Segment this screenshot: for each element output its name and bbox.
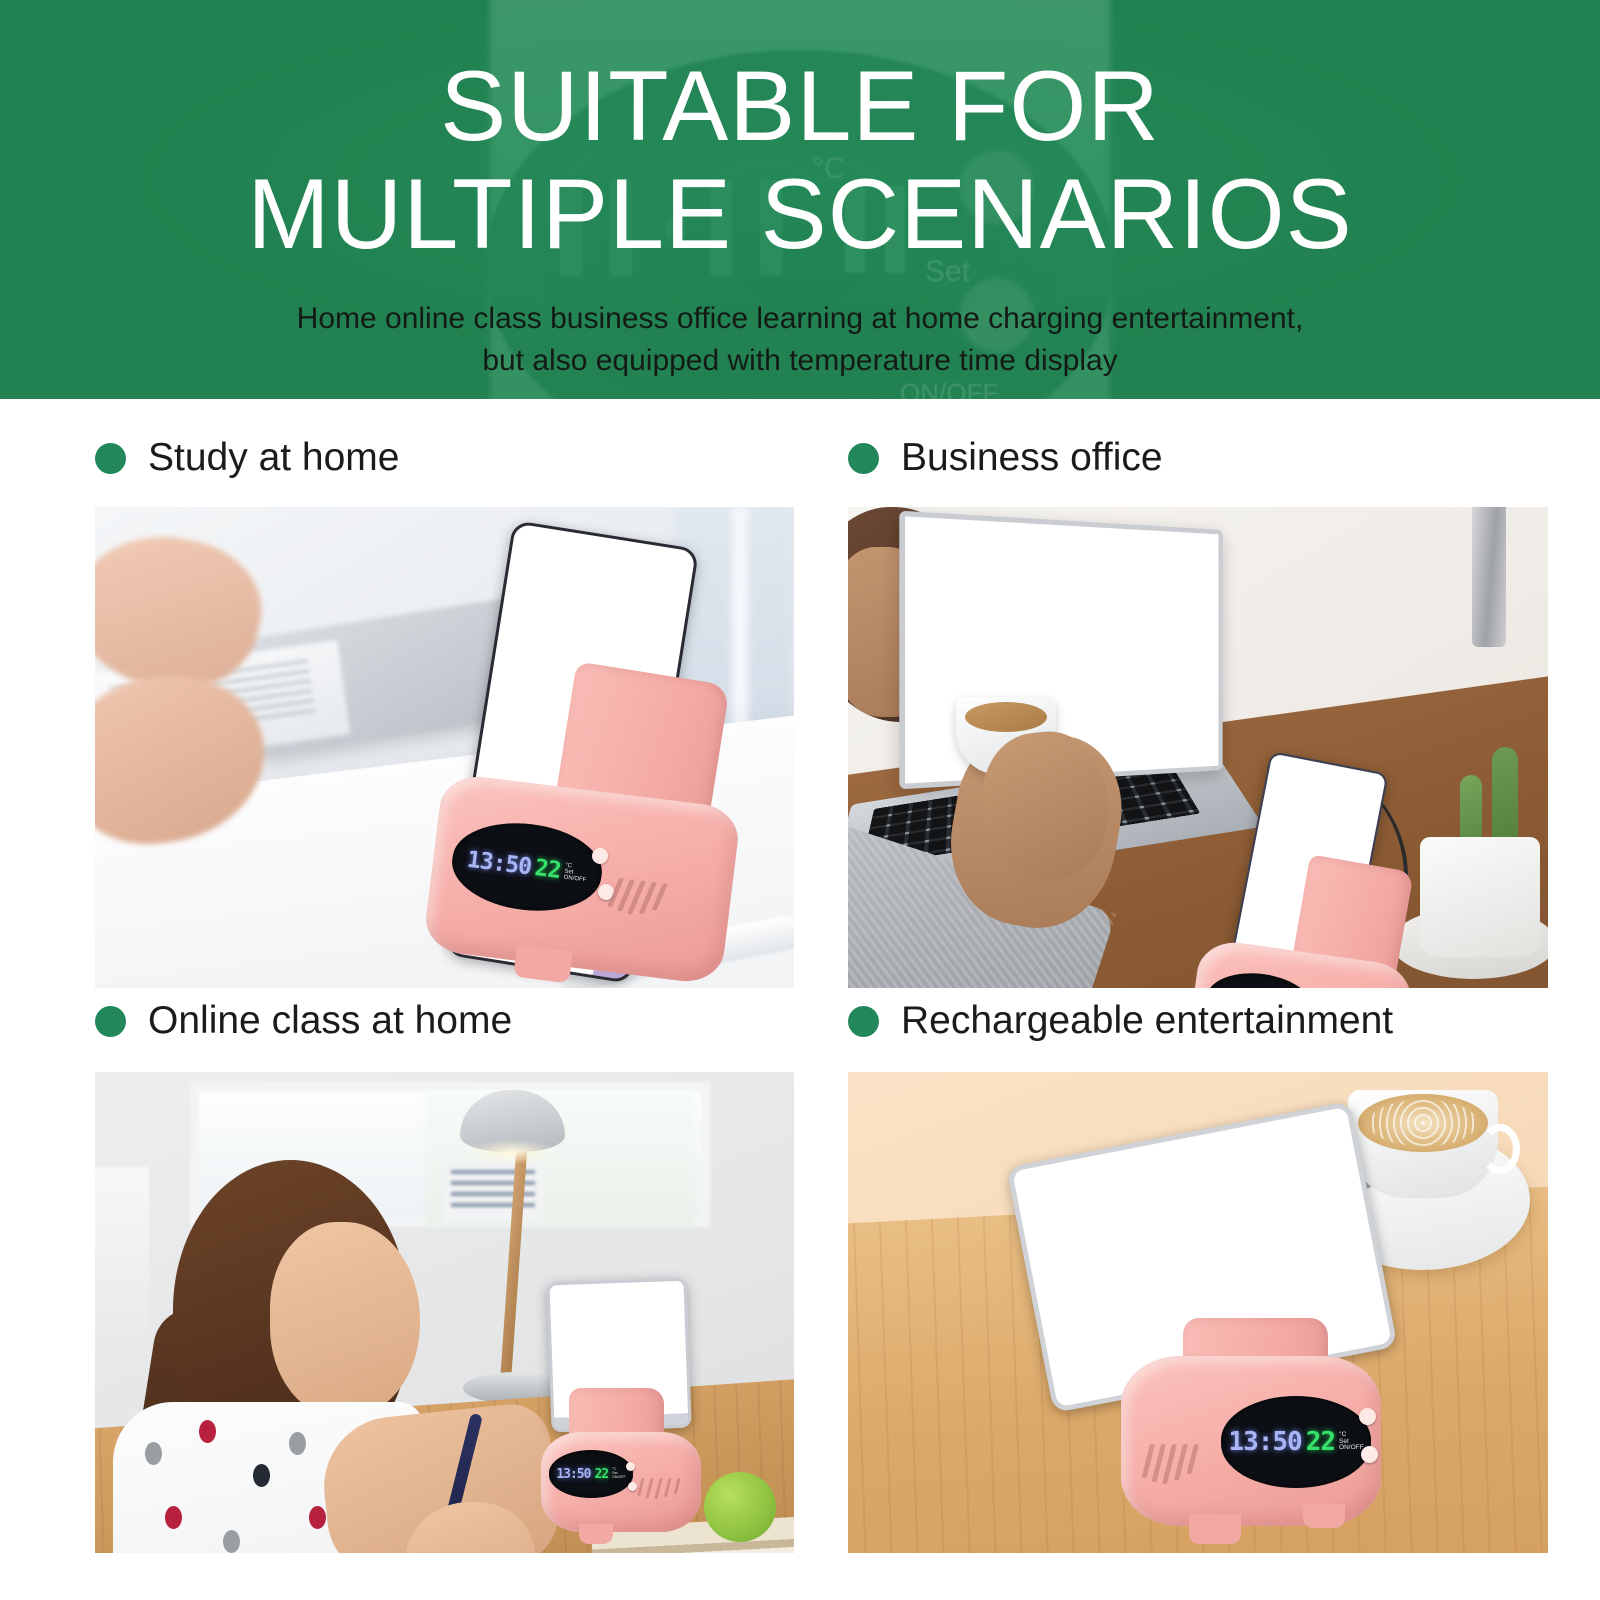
- scenario-label-study-at-home: Study at home: [95, 437, 399, 479]
- bullet-dot-icon: [95, 443, 126, 474]
- speaker-vents: [636, 1478, 680, 1499]
- led-display: 13:50 22 °C Set ON/OFF: [549, 1450, 633, 1498]
- scenario-label-business-office: Business office: [848, 437, 1163, 479]
- led-temperature: 22: [533, 855, 562, 884]
- child-face: [270, 1222, 420, 1417]
- page-subtitle-line2: but also equipped with temperature time …: [90, 340, 1510, 382]
- page-subtitle: Home online class business office learni…: [90, 298, 1510, 382]
- scenario-label-text: Study at home: [148, 437, 399, 479]
- scenario-label-rechargeable-entertainment: Rechargeable entertainment: [848, 1000, 1393, 1042]
- product-device: 13:50 22 °C Set ON/OFF: [1166, 752, 1466, 988]
- led-power-label: ON/OFF: [612, 1476, 626, 1480]
- floor-lamp: [1472, 507, 1506, 647]
- page-title: SUITABLE FOR MULTIPLE SCENARIOS: [0, 52, 1600, 268]
- bullet-dot-icon: [848, 1006, 879, 1037]
- power-button[interactable]: [1361, 1446, 1378, 1463]
- led-time: 13:50: [466, 847, 533, 881]
- page-title-line1: SUITABLE FOR: [440, 50, 1160, 161]
- scenario-photo-study-at-home: 13:50 22 °C Set ON/OFF: [95, 507, 794, 988]
- set-button[interactable]: [1359, 1408, 1376, 1425]
- page-title-line2: MULTIPLE SCENARIOS: [0, 160, 1600, 268]
- product-device: 13:50 22 °C Set ON/OFF: [1013, 1112, 1463, 1552]
- device-foot: [513, 945, 572, 984]
- scenario-photo-online-class-at-home: 13:50 22 °C Set ON/OFF: [95, 1072, 794, 1553]
- product-device: 13:50 22 °C Set ON/OFF: [527, 1280, 757, 1553]
- set-button[interactable]: [626, 1462, 635, 1471]
- power-button[interactable]: [628, 1482, 637, 1491]
- device-foot: [1303, 1504, 1345, 1528]
- scenario-photo-business-office: 13:50 22 °C Set ON/OFF: [848, 507, 1548, 988]
- scenario-photo-rechargeable-entertainment: 13:50 22 °C Set ON/OFF: [848, 1072, 1548, 1553]
- scenario-label-text: Rechargeable entertainment: [901, 1000, 1393, 1042]
- led-temperature: 22: [1306, 1427, 1335, 1457]
- device-foot: [1189, 1514, 1241, 1544]
- bullet-dot-icon: [95, 1006, 126, 1037]
- led-power-label: ON/OFF: [1339, 1445, 1364, 1452]
- led-time: 13:50: [556, 1467, 590, 1482]
- scenario-label-text: Business office: [901, 437, 1163, 479]
- led-display: 13:50 22 °C Set ON/OFF: [1221, 1396, 1371, 1488]
- led-time: 13:50: [1228, 1427, 1301, 1457]
- scenario-label-online-class-at-home: Online class at home: [95, 1000, 512, 1042]
- led-temperature: 22: [594, 1467, 608, 1482]
- product-feature-page: °C Set ON/OFF SUITABLE FOR MULTIPLE SCEN…: [0, 0, 1600, 1600]
- scenario-label-text: Online class at home: [148, 1000, 512, 1042]
- product-device: 13:50 22 °C Set ON/OFF: [360, 512, 760, 972]
- speaker-vents: [1140, 1444, 1199, 1484]
- page-subtitle-line1: Home online class business office learni…: [297, 302, 1304, 335]
- bullet-dot-icon: [848, 443, 879, 474]
- header-banner: °C Set ON/OFF SUITABLE FOR MULTIPLE SCEN…: [0, 0, 1600, 399]
- device-foot: [579, 1524, 613, 1544]
- led-power-label: ON/OFF: [563, 875, 586, 884]
